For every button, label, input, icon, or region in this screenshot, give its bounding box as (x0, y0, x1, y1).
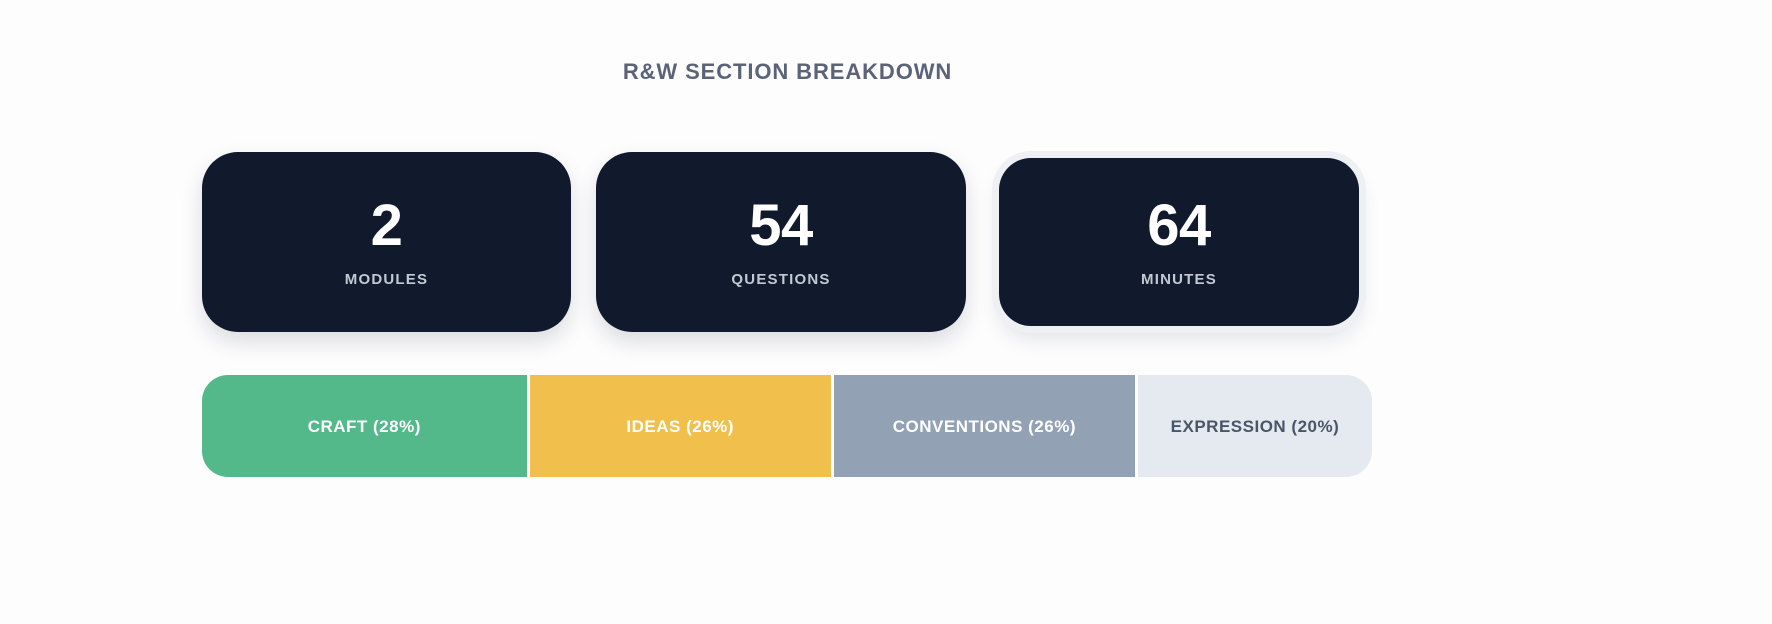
stat-label: QUESTIONS (731, 271, 830, 288)
stat-card-modules[interactable]: 2 MODULES (202, 152, 571, 332)
bar-segment-label: CONVENTIONS (26%) (893, 417, 1076, 437)
stat-cards-row: 2 MODULES 54 QUESTIONS 64 MINUTES (202, 152, 1372, 338)
bar-segment-craft[interactable]: CRAFT (28%) (202, 375, 530, 477)
bar-segment-label: CRAFT (28%) (308, 417, 421, 437)
chart-canvas: R&W SECTION BREAKDOWN 2 MODULES 54 QUEST… (0, 0, 1772, 624)
page-title: R&W SECTION BREAKDOWN (0, 59, 1575, 85)
stat-card-minutes[interactable]: 64 MINUTES (999, 158, 1359, 326)
stat-value: 64 (1147, 197, 1211, 255)
stat-label: MINUTES (1141, 271, 1217, 288)
stat-value: 54 (749, 197, 813, 255)
bar-segment-conventions[interactable]: CONVENTIONS (26%) (834, 375, 1138, 477)
stat-value: 2 (371, 197, 403, 255)
stat-label: MODULES (345, 271, 428, 288)
bar-segment-label: IDEAS (26%) (626, 417, 734, 437)
stat-card-questions[interactable]: 54 QUESTIONS (596, 152, 966, 332)
section-breakdown-bar: CRAFT (28%) IDEAS (26%) CONVENTIONS (26%… (202, 375, 1372, 477)
bar-segment-expression[interactable]: EXPRESSION (20%) (1138, 375, 1372, 477)
bar-segment-label: EXPRESSION (20%) (1171, 417, 1340, 437)
bar-segment-ideas[interactable]: IDEAS (26%) (530, 375, 834, 477)
